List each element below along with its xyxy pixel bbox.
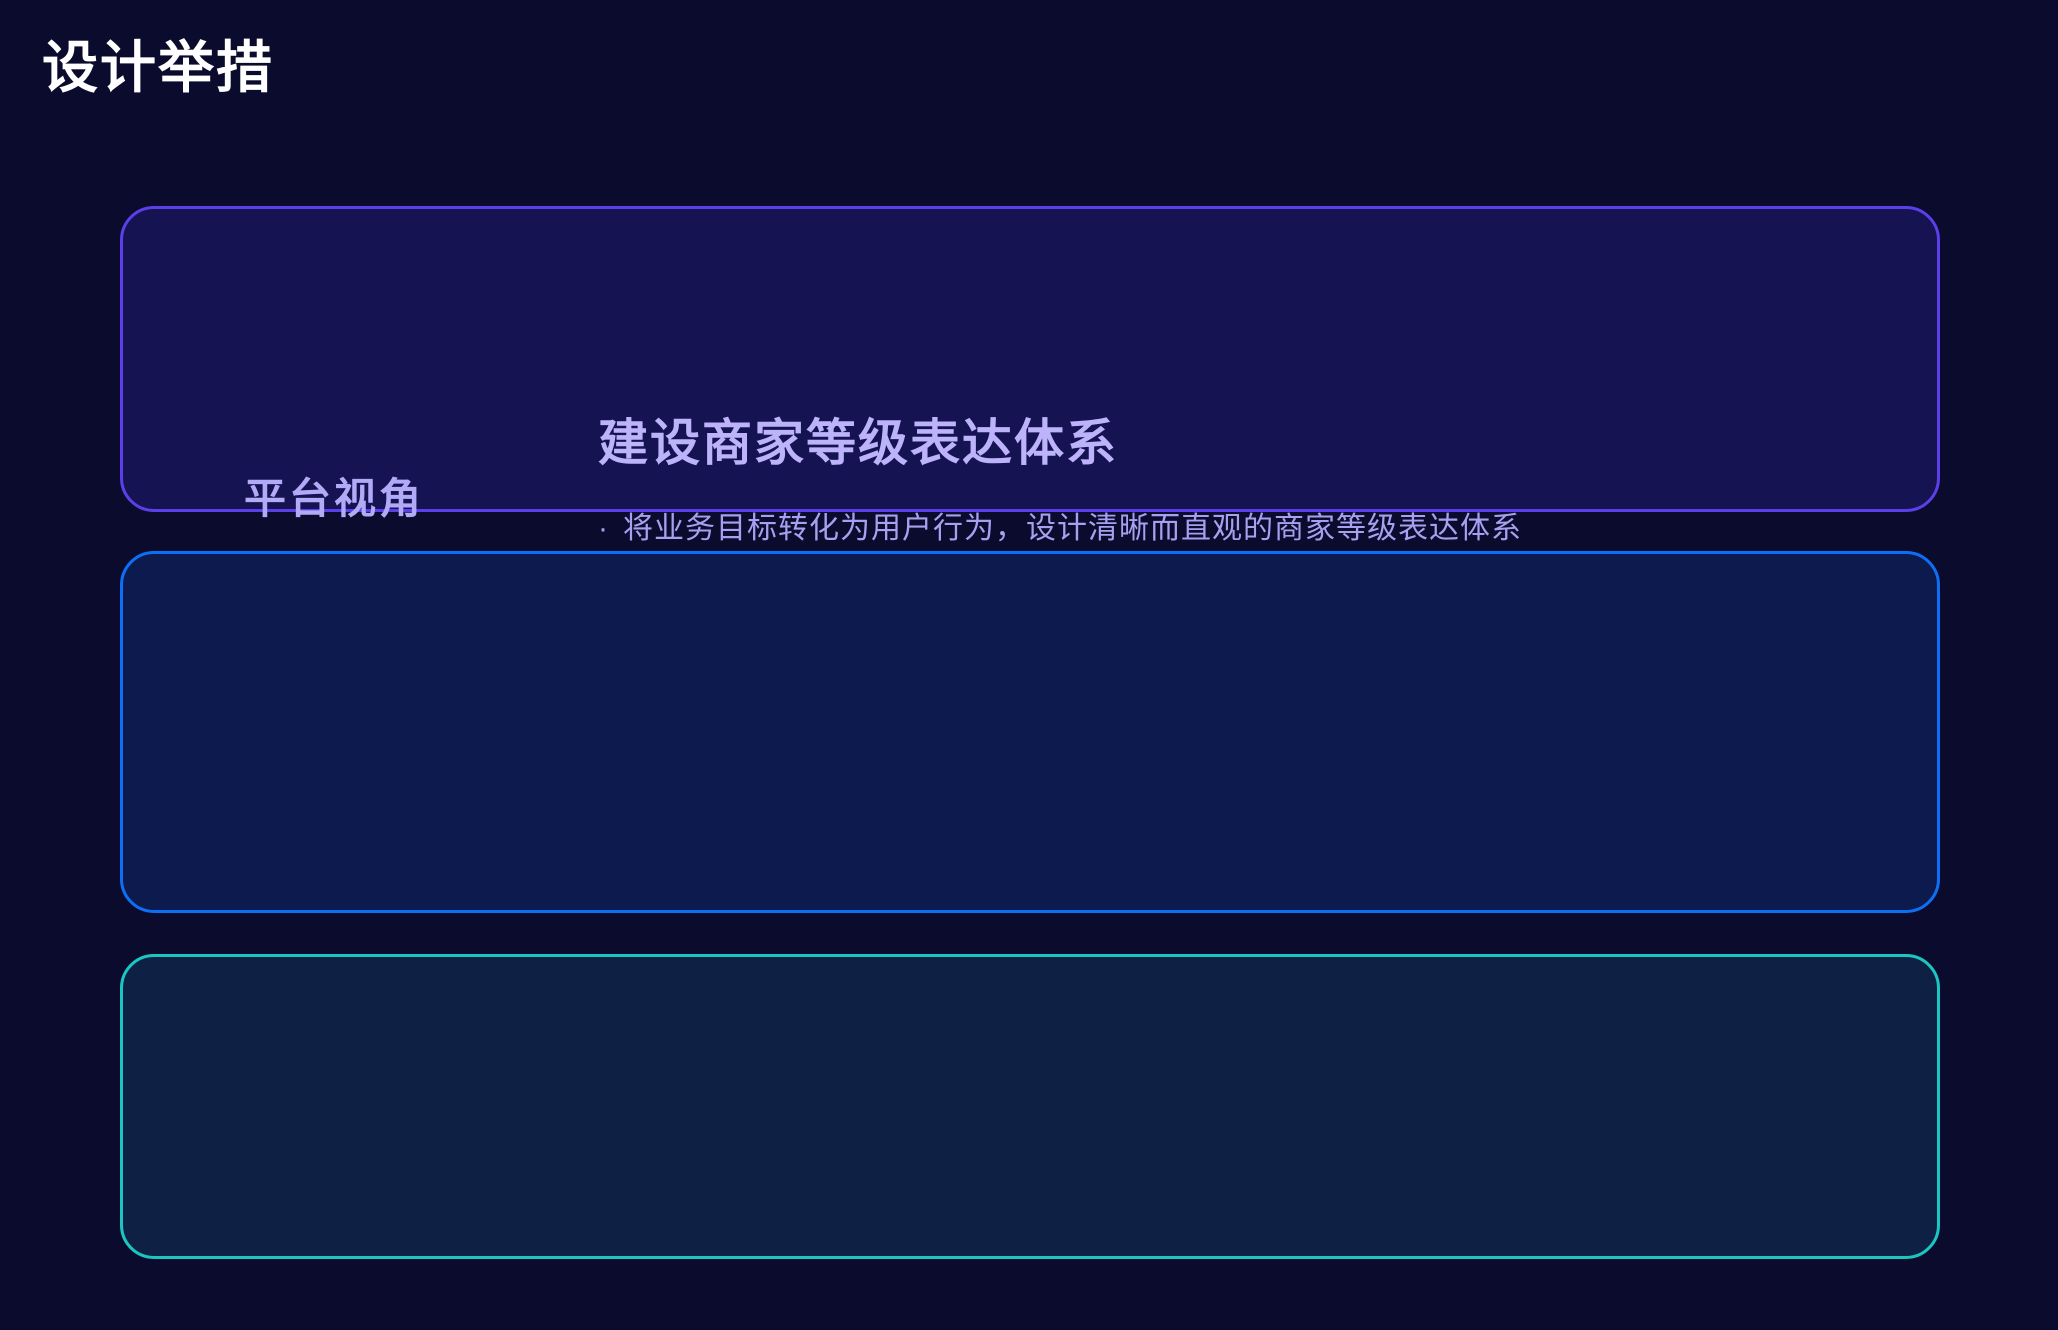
bullet-dot-icon: · [598, 514, 609, 544]
slide-canvas: 设计举措 平台视角 建设商家等级表达体系 · 将业务目标转化为用户行为，设计清晰… [0, 0, 2058, 1330]
bullet-text: 将业务目标转化为用户行为，设计清晰而直观的商家等级表达体系 [623, 503, 1522, 556]
perspective-card-user: 用户视角 建立用户信任 · 通过增加C端披露，提升用户对商家的信任度，降低决策成… [120, 954, 1940, 1259]
perspective-card-platform: 平台视角 建设商家等级表达体系 · 将业务目标转化为用户行为，设计清晰而直观的商… [120, 206, 1940, 512]
card-heading-platform: 建设商家等级表达体系 [598, 412, 1877, 475]
card-body-platform: 建设商家等级表达体系 · 将业务目标转化为用户行为，设计清晰而直观的商家等级表达… [598, 412, 1877, 555]
list-item: · 将业务目标转化为用户行为，设计清晰而直观的商家等级表达体系 [598, 503, 1877, 556]
card-bullets-platform: · 将业务目标转化为用户行为，设计清晰而直观的商家等级表达体系 [598, 503, 1877, 556]
page-title: 设计举措 [42, 34, 274, 101]
card-label-platform: 平台视角 [244, 465, 424, 526]
perspective-card-merchant: 商家视角 强化感知，明确路径 · 通过设计引导，强化客户对等级的感知 · 建设成… [120, 551, 1940, 913]
